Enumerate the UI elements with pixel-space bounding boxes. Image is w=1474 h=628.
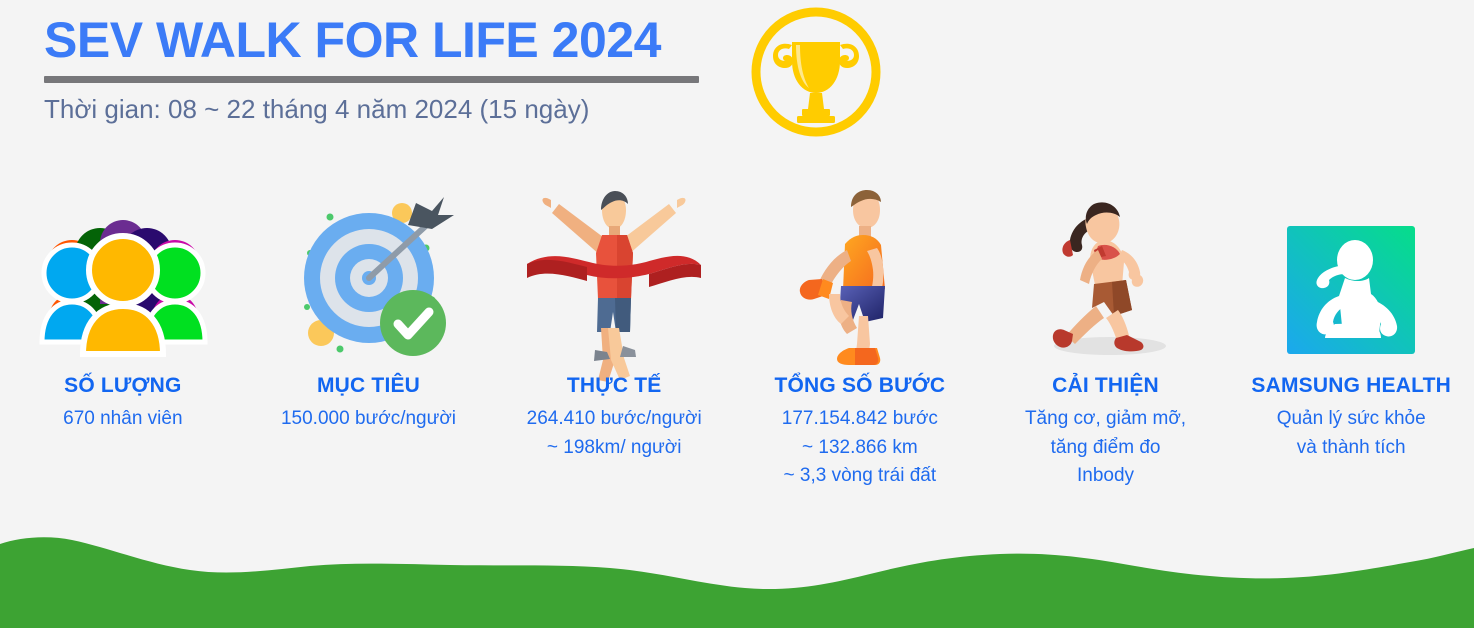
stat-line: và thành tích (1277, 434, 1426, 463)
stat-label: TỔNG SỐ BƯỚC (774, 374, 945, 398)
samsung-health-app-icon[interactable] (1281, 188, 1421, 360)
man-stretching-icon (785, 188, 935, 360)
stat-values: Quản lý sức khỏe và thành tích (1277, 405, 1426, 462)
stat-line: Quản lý sức khỏe (1277, 405, 1426, 434)
trophy-icon (742, 4, 890, 140)
stat-label: SỐ LƯỢNG (64, 374, 181, 398)
stat-card-thuc-te: THỰC TẾ 264.410 bước/người ~ 198km/ ngườ… (491, 188, 737, 518)
title-divider (44, 76, 699, 83)
stat-card-cai-thien: CẢI THIỆN Tăng cơ, giảm mỡ, tăng điểm đo… (983, 188, 1229, 518)
stat-label: MỤC TIÊU (317, 374, 420, 398)
stat-line: tăng điểm đo (1025, 434, 1186, 463)
stat-line: 670 nhân viên (63, 405, 182, 434)
stat-values: 177.154.842 bước ~ 132.866 km ~ 3,3 vòng… (782, 405, 938, 491)
stat-line: ~ 3,3 vòng trái đất (782, 462, 938, 491)
infographic-page: SEV WALK FOR LIFE 2024 Thời gian: 08 ~ 2… (0, 0, 1474, 628)
stat-card-tong-so-buoc: TỔNG SỐ BƯỚC 177.154.842 bước ~ 132.866 … (737, 188, 983, 518)
people-group-icon (28, 188, 218, 360)
stat-line: 177.154.842 bước (782, 405, 938, 434)
woman-running-icon (1018, 188, 1193, 360)
stat-label: THỰC TẾ (567, 374, 662, 398)
stat-values: 670 nhân viên (63, 405, 182, 434)
stat-card-samsung-health: SAMSUNG HEALTH Quản lý sức khỏe và thành… (1228, 188, 1474, 518)
stat-values: 264.410 bước/người ~ 198km/ người (527, 405, 702, 462)
page-title: SEV WALK FOR LIFE 2024 (44, 14, 744, 67)
stats-row: SỐ LƯỢNG 670 nhân viên (0, 188, 1474, 518)
stat-card-so-luong: SỐ LƯỢNG 670 nhân viên (0, 188, 246, 518)
green-hill-decoration (0, 518, 1474, 628)
stat-line: ~ 198km/ người (527, 434, 702, 463)
event-period-subtitle: Thời gian: 08 ~ 22 tháng 4 năm 2024 (15 … (44, 94, 744, 125)
stat-label: CẢI THIỆN (1052, 374, 1159, 398)
stat-line: Tăng cơ, giảm mỡ, (1025, 405, 1186, 434)
stat-line: ~ 132.866 km (782, 434, 938, 463)
stat-line: 264.410 bước/người (527, 405, 702, 434)
stat-values: 150.000 bước/người (281, 405, 456, 434)
target-arrow-check-icon (274, 188, 464, 360)
runner-finish-line-icon (519, 188, 709, 360)
stat-values: Tăng cơ, giảm mỡ, tăng điểm đo Inbody (1025, 405, 1186, 491)
header: SEV WALK FOR LIFE 2024 Thời gian: 08 ~ 2… (44, 14, 744, 125)
stat-line: 150.000 bước/người (281, 405, 456, 434)
stat-label: SAMSUNG HEALTH (1251, 374, 1451, 398)
stat-card-muc-tieu: MỤC TIÊU 150.000 bước/người (246, 188, 492, 518)
stat-line: Inbody (1025, 462, 1186, 491)
